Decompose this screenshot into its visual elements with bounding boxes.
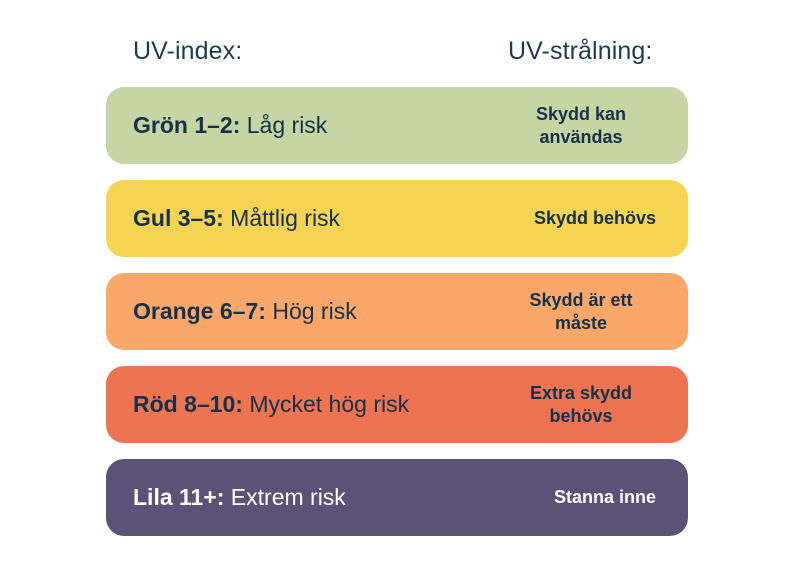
uv-level-advice: Skydd behövs bbox=[534, 207, 656, 230]
column-headers: UV-index: UV-strålning: bbox=[106, 34, 688, 68]
uv-level-risk: Extrem risk bbox=[224, 484, 345, 510]
uv-level-row-green: Grön 1–2: Låg risk Skydd kan användas bbox=[106, 87, 688, 164]
header-uv-index: UV-index: bbox=[133, 34, 242, 68]
uv-level-risk: Låg risk bbox=[240, 112, 327, 138]
uv-level-advice: Skydd kan användas bbox=[506, 103, 656, 149]
uv-level-range: Lila 11+: bbox=[133, 484, 224, 510]
uv-level-advice: Skydd är ett måste bbox=[506, 289, 656, 335]
uv-level-row-yellow: Gul 3–5: Måttlig risk Skydd behövs bbox=[106, 180, 688, 257]
uv-level-description: Grön 1–2: Låg risk bbox=[133, 111, 327, 140]
header-uv-radiation: UV-strålning: bbox=[508, 34, 652, 68]
uv-level-range: Orange 6–7: bbox=[133, 298, 266, 324]
uv-level-range: Röd 8–10: bbox=[133, 391, 243, 417]
uv-level-risk: Hög risk bbox=[266, 298, 357, 324]
uv-level-row-red: Röd 8–10: Mycket hög risk Extra skydd be… bbox=[106, 366, 688, 443]
uv-level-advice: Extra skydd behövs bbox=[506, 382, 656, 428]
uv-level-row-orange: Orange 6–7: Hög risk Skydd är ett måste bbox=[106, 273, 688, 350]
uv-level-description: Gul 3–5: Måttlig risk bbox=[133, 204, 340, 233]
uv-level-description: Röd 8–10: Mycket hög risk bbox=[133, 390, 409, 419]
uv-level-range: Grön 1–2: bbox=[133, 112, 240, 138]
uv-level-risk: Mycket hög risk bbox=[243, 391, 409, 417]
uv-level-range: Gul 3–5: bbox=[133, 205, 224, 231]
uv-level-row-purple: Lila 11+: Extrem risk Stanna inne bbox=[106, 459, 688, 536]
uv-level-risk: Måttlig risk bbox=[224, 205, 340, 231]
uv-level-advice: Stanna inne bbox=[554, 486, 656, 509]
uv-level-description: Orange 6–7: Hög risk bbox=[133, 297, 357, 326]
uv-level-description: Lila 11+: Extrem risk bbox=[133, 483, 346, 512]
uv-level-list: Grön 1–2: Låg risk Skydd kan användas Gu… bbox=[106, 87, 688, 536]
uv-index-infographic: UV-index: UV-strålning: Grön 1–2: Låg ri… bbox=[0, 0, 792, 583]
